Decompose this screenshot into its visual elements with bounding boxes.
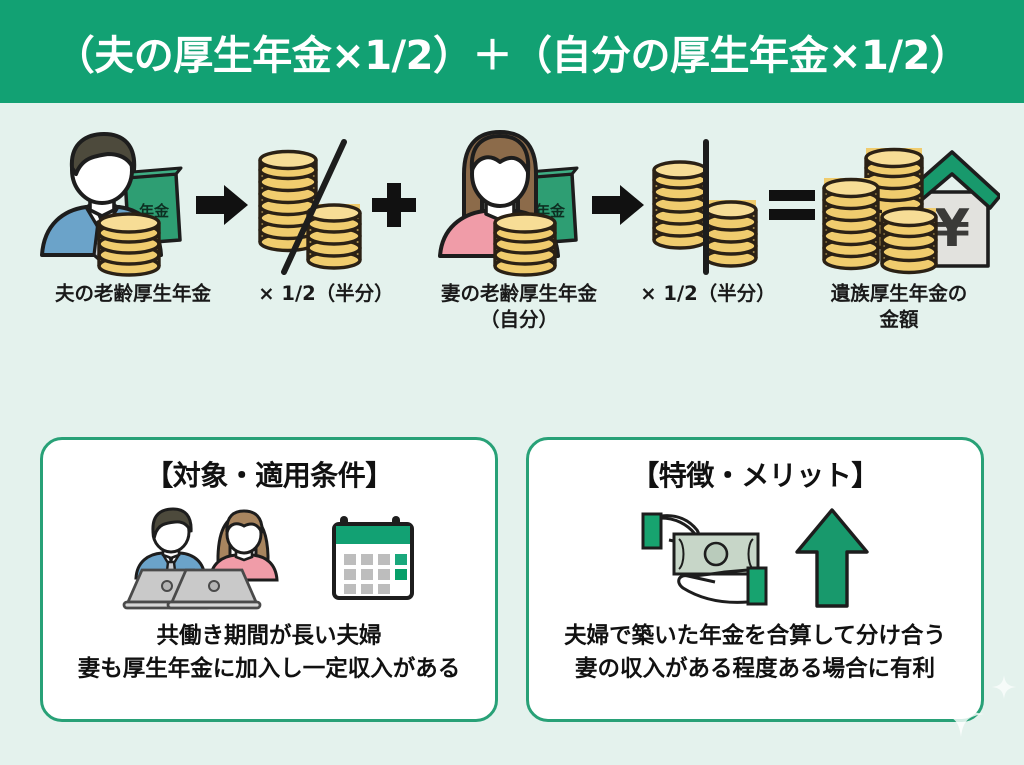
wife-half-icon-group (648, 130, 764, 280)
formula-icon-row: 年金 (0, 115, 1024, 295)
card-conditions-icons (122, 498, 416, 618)
arrow-icon-2 (588, 183, 648, 227)
info-cards: 【対象・適用条件】 (0, 437, 1024, 722)
arrow-icon-1 (192, 183, 252, 227)
card-merits-title: 【特徴・メリット】 (631, 454, 879, 494)
result-icon-group: ¥ (820, 130, 1000, 280)
plus-operator (368, 183, 420, 227)
card-conditions-text: 共働き期間が長い夫婦 妻も厚生年金に加入し一定収入がある (78, 620, 461, 685)
card-merits-icons (641, 498, 869, 618)
label-husband-pension: 夫の老齢厚生年金 (18, 281, 248, 307)
label-wife-pension: 妻の老齢厚生年金 （自分） (404, 281, 634, 334)
card-merits-text: 夫婦で築いた年金を合算して分け合う 妻の収入がある程度ある場合に有利 (564, 620, 946, 685)
plus-icon (372, 183, 416, 227)
svg-text:¥: ¥ (934, 199, 970, 259)
wife-icon-group: 年金 (420, 130, 588, 280)
couple-at-laptops-icon (122, 506, 304, 610)
label-result-amount: 遺族厚生年金の 金額 (794, 281, 1004, 334)
equals-operator (764, 188, 820, 222)
up-arrow-icon (795, 508, 869, 608)
coins-and-house-with-yen-icon: ¥ (820, 130, 1000, 280)
husband-half-icon-group (252, 130, 368, 280)
right-arrow-icon (592, 183, 644, 227)
label-husband-half: × 1/2（半分） (246, 281, 406, 307)
formula-section: 年金 (0, 103, 1024, 413)
woman-with-pension-book-and-coins-icon: 年金 (420, 130, 588, 280)
card-conditions-title: 【対象・適用条件】 (145, 454, 393, 494)
husband-icon-group: 年金 (24, 130, 192, 280)
equals-icon (769, 188, 815, 222)
man-with-pension-book-and-coins-icon: 年金 (24, 130, 192, 280)
right-arrow-icon (196, 183, 248, 227)
label-wife-half: × 1/2（半分） (628, 281, 788, 307)
coins-split-diagonal-icon (252, 130, 368, 280)
formula-labels: 夫の老齢厚生年金 × 1/2（半分） 妻の老齢厚生年金 （自分） × 1/2（半… (0, 281, 1024, 371)
card-merits: 【特徴・メリット】 夫婦で築いた年金を合算して分け合う (526, 437, 984, 722)
header-banner: （夫の厚生年金×1/2）＋（自分の厚生年金×1/2） (0, 0, 1024, 103)
calendar-icon (330, 512, 416, 604)
hand-passing-money-icon (641, 506, 769, 610)
page-title: （夫の厚生年金×1/2）＋（自分の厚生年金×1/2） (55, 23, 970, 81)
coins-split-vertical-icon (648, 130, 764, 280)
card-conditions: 【対象・適用条件】 (40, 437, 498, 722)
